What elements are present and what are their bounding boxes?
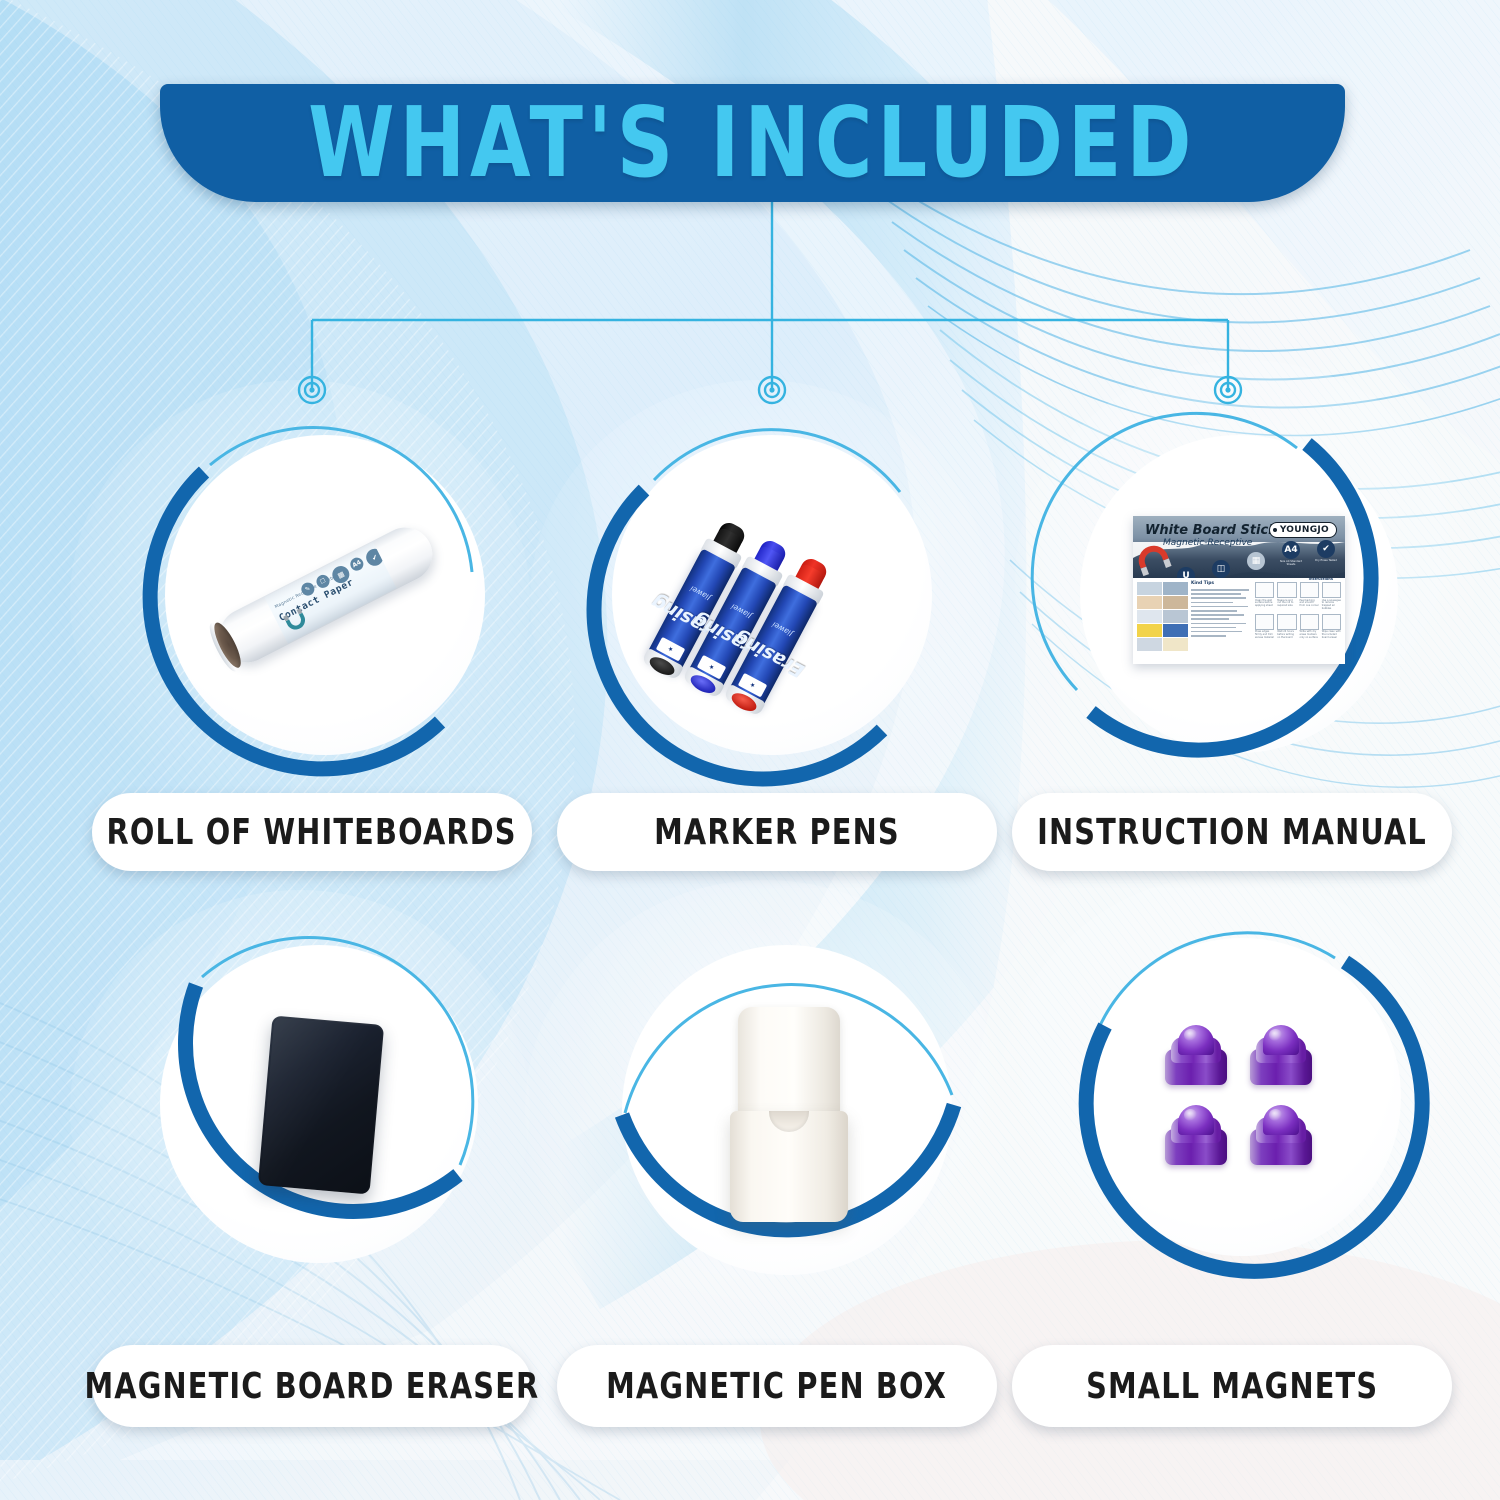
product-magnetic-pen-box <box>730 1007 848 1222</box>
pen-brand-text: Jiawei <box>730 602 753 620</box>
label-pill-marker-pens: MARKER PENS <box>557 793 997 871</box>
label-pill-magnetic-pen-box: MAGNETIC PEN BOX <box>557 1345 997 1427</box>
item-tile-small-magnets[interactable] <box>1035 910 1435 1300</box>
label-pill-magnetic-board-eraser: MAGNETIC BOARD ERASER <box>92 1345 532 1427</box>
manual-body: Kind Tips Instructions <box>1133 578 1345 664</box>
infographic-root: WHAT'S INCLUDED <box>0 0 1500 1500</box>
magnet-item <box>1165 1105 1227 1165</box>
a4-size-icon: A4 <box>1282 541 1300 559</box>
manual-icon-caption: Size A4 Standard Sheets <box>1278 561 1304 567</box>
pen-brand-text: Jiawei <box>771 620 794 638</box>
magnet-item <box>1165 1025 1227 1085</box>
brand-logo: YOUNGJO <box>1269 522 1337 538</box>
manual-steps: Instructions Clean the wall surface befo… <box>1255 582 1341 639</box>
board-eraser <box>258 1015 384 1194</box>
peel-stick-icon: ◫ <box>1212 560 1230 578</box>
label-pill-small-magnets: SMALL MAGNETS <box>1012 1345 1452 1427</box>
manual-tips-title: Kind Tips <box>1191 581 1214 586</box>
label-pill-roll-of-whiteboards: ROLL OF WHITEBOARDS <box>92 793 532 871</box>
contact-paper-roll: Magnetic Receptive Whiteboard & Contact … <box>210 518 441 671</box>
item-label: MAGNETIC PEN BOX <box>607 1365 948 1407</box>
item-tile-instruction-manual[interactable]: White Board Sticker Magnetic-Receptive Y… <box>1045 400 1445 790</box>
magnet-item <box>1250 1025 1312 1085</box>
product-small-magnets <box>1165 1025 1315 1171</box>
item-tile-magnetic-pen-box[interactable] <box>570 915 980 1315</box>
magnet-item <box>1250 1105 1312 1165</box>
product-marker-pens: Jiawei Erasing ★ Jiawei Erasing ★ <box>675 505 885 705</box>
note-icon: ☐ <box>314 573 331 590</box>
check-icon: ✔ <box>1317 540 1335 558</box>
item-label: ROLL OF WHITEBOARDS <box>107 811 517 853</box>
manual-steps-title: Instructions <box>1309 577 1333 581</box>
manual-swatches <box>1137 582 1189 652</box>
label-pill-instruction-manual: INSTRUCTION MANUAL <box>1012 793 1452 871</box>
product-roll-of-whiteboards: Magnetic Receptive Whiteboard & Contact … <box>192 510 462 690</box>
roll-label: Magnetic Receptive Whiteboard & Contact … <box>264 542 396 644</box>
header-banner: WHAT'S INCLUDED <box>160 84 1345 202</box>
item-tile-roll-of-whiteboards[interactable]: Magnetic Receptive Whiteboard & Contact … <box>110 400 510 790</box>
manual-tips-lines <box>1191 589 1249 639</box>
page-title: WHAT'S INCLUDED <box>308 94 1196 192</box>
item-label: MAGNETIC BOARD ERASER <box>85 1365 540 1407</box>
item-label: INSTRUCTION MANUAL <box>1037 811 1427 853</box>
grid-icon: ▦ <box>1247 552 1265 570</box>
item-label: SMALL MAGNETS <box>1086 1365 1378 1407</box>
item-tile-marker-pens[interactable]: Jiawei Erasing ★ Jiawei Erasing ★ <box>570 400 970 790</box>
manual-icon-caption: Grid Lines <box>1243 572 1269 575</box>
pen-brand-text: Jiawei <box>689 584 712 602</box>
item-label: MARKER PENS <box>654 811 900 853</box>
a4-icon: A4 <box>348 555 365 572</box>
product-instruction-manual: White Board Sticker Magnetic-Receptive Y… <box>1133 516 1345 664</box>
manual-icon-caption: Dry Erase Tested <box>1313 560 1339 563</box>
item-tile-magnetic-board-eraser[interactable] <box>110 915 510 1305</box>
